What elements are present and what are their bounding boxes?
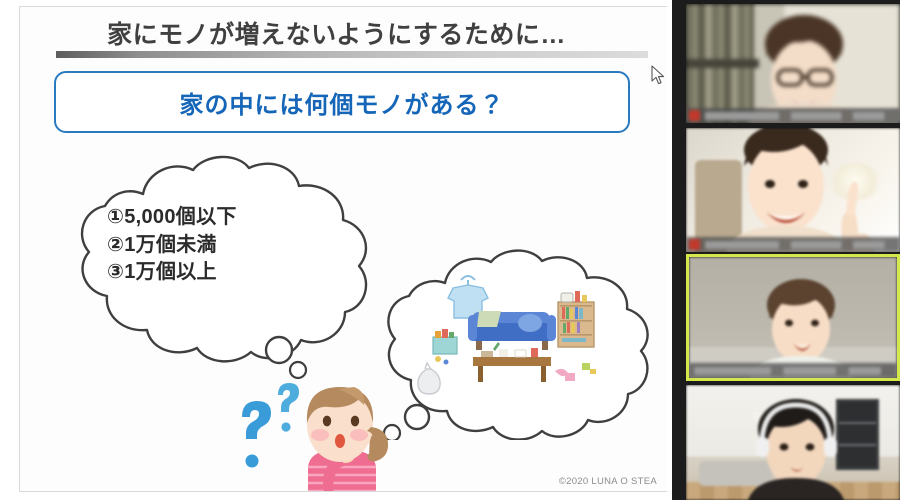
copyright-notice: ©2020 LUNA O STEA [559, 476, 657, 487]
girl-head [307, 387, 388, 462]
participant-portrait [686, 4, 900, 123]
video-feed [689, 257, 897, 378]
video-feed [686, 128, 900, 252]
arrow-cursor [651, 65, 665, 85]
participant-name-label [705, 241, 900, 249]
participant-name-label [705, 112, 900, 120]
question-mark-icon [242, 401, 271, 468]
video-feed [686, 385, 900, 500]
video-tile-participant-2[interactable] [686, 128, 900, 252]
answer-option-1: ①5,000個以下 [107, 204, 357, 232]
video-feed [686, 4, 900, 123]
title-divider-rule [56, 51, 648, 58]
participant-portrait [686, 128, 900, 252]
presentation-slide[interactable]: 家にモノが増えないようにするために… 家の中には何個モノがある？ ①5,000個… [19, 6, 667, 492]
participant-video-rail[interactable] [672, 0, 900, 500]
question-callout-box: 家の中には何個モノがある？ [54, 71, 630, 133]
participant-name-bar [686, 108, 900, 123]
shared-screen-region[interactable]: 家にモノが増えないようにするために… 家の中には何個モノがある？ ①5,000個… [0, 0, 672, 500]
video-tile-participant-1[interactable] [686, 4, 900, 123]
question-mark-icon [278, 383, 299, 432]
microphone-muted-icon [689, 110, 700, 121]
video-scene [686, 4, 900, 123]
participant-name-label [694, 367, 897, 375]
slide-title: 家にモノが増えないようにするために… [20, 15, 667, 51]
microphone-muted-icon [689, 239, 700, 250]
participant-portrait [689, 257, 897, 378]
room-thought-bubble [375, 245, 665, 440]
video-scene [689, 257, 897, 378]
answer-option-2: ②1万個未満 [107, 232, 357, 260]
participant-name-bar [686, 237, 900, 252]
participant-name-bar [689, 363, 897, 378]
meeting-screen-share-view: 家にモノが増えないようにするために… 家の中には何個モノがある？ ①5,000個… [0, 0, 900, 500]
video-scene [686, 385, 900, 500]
video-tile-participant-4[interactable] [686, 385, 900, 500]
thinking-girl-illustration [228, 365, 388, 492]
question-text: 家の中には何個モノがある？ [180, 85, 505, 120]
answer-option-3: ③1万個以上 [107, 259, 357, 287]
video-scene [686, 128, 900, 252]
participant-portrait [686, 385, 900, 500]
answer-options-list: ①5,000個以下 ②1万個未満 ③1万個以上 [107, 204, 357, 287]
thought-bubble-icon [375, 245, 665, 440]
video-tile-participant-3[interactable] [686, 254, 900, 381]
answer-thought-bubble: ①5,000個以下 ②1万個未満 ③1万個以上 [65, 152, 385, 382]
